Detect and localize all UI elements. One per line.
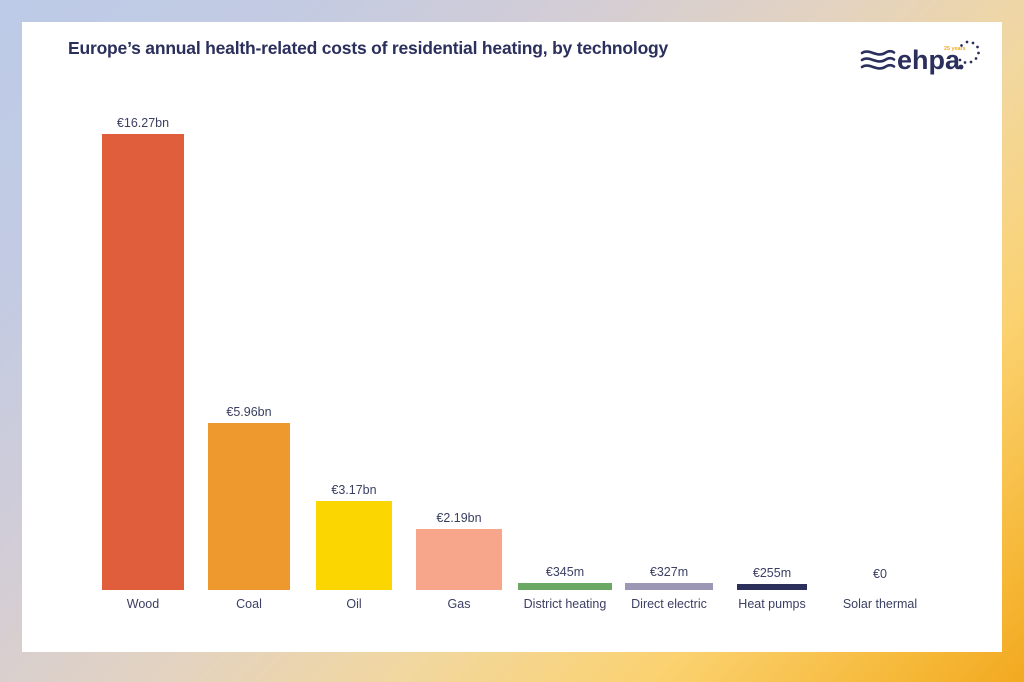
bar-rect-heat-pumps[interactable] bbox=[737, 584, 807, 590]
bar-label-oil: Oil bbox=[346, 597, 361, 611]
bar-label-district-heating: District heating bbox=[524, 597, 607, 611]
page-title: Europe’s annual health-related costs of … bbox=[68, 38, 668, 59]
ehpa-logo: ehpa 25 years bbox=[860, 37, 980, 83]
bar-group-wood[interactable]: €16.27bn Wood bbox=[102, 134, 184, 590]
bar-label-gas: Gas bbox=[448, 597, 471, 611]
bar-rect-oil[interactable] bbox=[316, 501, 392, 590]
bar-label-wood: Wood bbox=[127, 597, 159, 611]
bar-label-coal: Coal bbox=[236, 597, 262, 611]
bar-rect-wood[interactable] bbox=[102, 134, 184, 590]
logo-dot bbox=[959, 65, 964, 70]
ehpa-logo-svg: ehpa 25 years bbox=[860, 37, 980, 83]
wave-icon bbox=[862, 51, 894, 68]
bar-value-district-heating: €345m bbox=[546, 565, 584, 579]
chart-header: Europe’s annual health-related costs of … bbox=[22, 22, 1002, 92]
bar-value-direct-electric: €327m bbox=[650, 565, 688, 579]
bar-rect-direct-electric[interactable] bbox=[625, 583, 713, 590]
eu-stars-icon bbox=[959, 41, 980, 64]
bar-label-solar-thermal: Solar thermal bbox=[843, 597, 917, 611]
bar-group-oil[interactable]: €3.17bn Oil bbox=[316, 501, 392, 590]
bar-group-direct-electric[interactable]: €327m Direct electric bbox=[625, 583, 713, 590]
logo-anniversary: 25 years bbox=[944, 46, 966, 52]
bar-label-direct-electric: Direct electric bbox=[631, 597, 707, 611]
bar-group-coal[interactable]: €5.96bn Coal bbox=[208, 423, 290, 590]
bar-value-oil: €3.17bn bbox=[331, 483, 376, 497]
bar-value-solar-thermal: €0 bbox=[873, 567, 887, 581]
bar-rect-coal[interactable] bbox=[208, 423, 290, 590]
bar-rect-gas[interactable] bbox=[416, 529, 502, 590]
bar-chart-plot: €16.27bn Wood €5.96bn Coal €3.17bn Oil €… bbox=[22, 92, 1002, 652]
bar-rect-district-heating[interactable] bbox=[518, 583, 612, 590]
bar-value-gas: €2.19bn bbox=[436, 511, 481, 525]
bar-value-heat-pumps: €255m bbox=[753, 566, 791, 580]
bar-group-heat-pumps[interactable]: €255m Heat pumps bbox=[737, 584, 807, 590]
bar-value-wood: €16.27bn bbox=[117, 116, 169, 130]
bar-label-heat-pumps: Heat pumps bbox=[738, 597, 805, 611]
bar-group-gas[interactable]: €2.19bn Gas bbox=[416, 529, 502, 590]
bar-group-district-heating[interactable]: €345m District heating bbox=[518, 583, 612, 590]
chart-card: Europe’s annual health-related costs of … bbox=[22, 22, 1002, 652]
bar-value-coal: €5.96bn bbox=[226, 405, 271, 419]
